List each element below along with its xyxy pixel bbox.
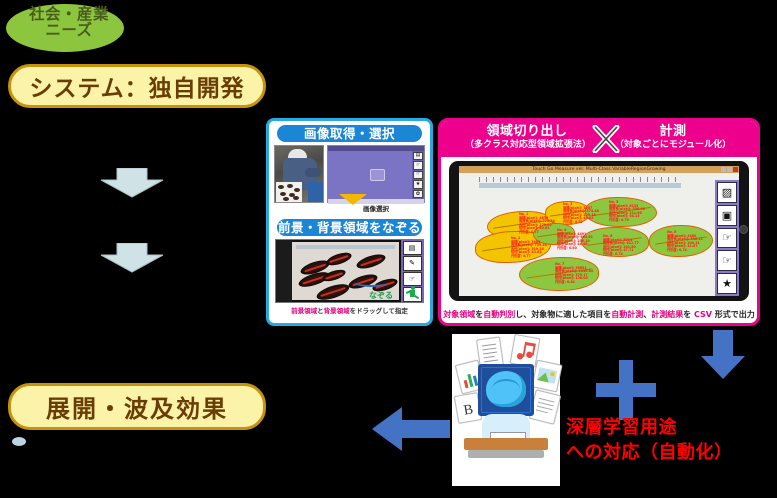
app-window-titlebar: Touch Go Measure ver. Multi-Class Variab… bbox=[459, 166, 739, 173]
step1-header: 画像取得・選択 bbox=[277, 125, 422, 142]
measurement-canvas[interactable]: No. 1 面積[pixel]: 4835 周囲長[pixel]: 778.84… bbox=[459, 173, 739, 296]
floppy-save-icon[interactable]: ▣ bbox=[717, 205, 737, 226]
stage-chevron-icon bbox=[339, 194, 367, 205]
pale-down-arrow-2 bbox=[97, 243, 167, 277]
step2-header: 前景・背景領域をなぞる bbox=[277, 219, 422, 236]
trace-hint-label: なぞる bbox=[369, 290, 393, 301]
annotation-5: No. 5 面積[pixel]: 6133 周囲長[pixel]: 558.06… bbox=[609, 201, 645, 223]
system-box: システム：独自開発 bbox=[8, 64, 266, 108]
card-image-icon bbox=[531, 360, 562, 393]
hand-pointer-icon[interactable]: ☞ bbox=[717, 228, 737, 249]
graph-icon[interactable]: ▨ bbox=[717, 182, 737, 203]
app-toolbar[interactable]: ▨ ▣ ☞ ☞ ★ bbox=[715, 180, 739, 296]
tablet-screen: Touch Go Measure ver. Multi-Class Variab… bbox=[459, 166, 739, 296]
right-title: 計測 bbox=[605, 124, 741, 139]
annotation-7: No. 7 面積[pixel]: 39601 周囲長[pixel]: 1436.… bbox=[555, 263, 593, 285]
right-subtitle: （対象ごとにモジュール化） bbox=[605, 139, 741, 152]
star-icon[interactable]: ★ bbox=[717, 273, 737, 294]
hand-pointer-alt-icon[interactable]: ☞ bbox=[717, 250, 737, 271]
dl-caption-line2: への対応（自動化） bbox=[566, 440, 776, 465]
tablet-device: Touch Go Measure ver. Multi-Class Variab… bbox=[449, 161, 749, 301]
plus-sign-icon bbox=[596, 360, 656, 420]
window-title: Touch Go Measure ver. Multi-Class Variab… bbox=[459, 166, 739, 173]
left-title: 領域切り出し bbox=[465, 124, 589, 139]
tablet-home-button[interactable] bbox=[739, 225, 748, 234]
blue-left-arrow bbox=[372, 405, 450, 453]
step2-caption: 前景領域と背景領域をドラッグして指定 bbox=[269, 305, 430, 315]
deep-learning-illustration: B bbox=[452, 334, 560, 486]
pink-panel-footer: 対象領域を自動判別し、対象物に適した項目を自動計測、計測結果を CSV 形式で出… bbox=[441, 309, 757, 320]
deploy-box: 展開・波及効果 bbox=[8, 383, 266, 430]
bullet-dot bbox=[12, 437, 26, 446]
brain-icon bbox=[486, 371, 526, 407]
window-controls[interactable] bbox=[721, 167, 738, 172]
needs-label-line1: 社会・産業 bbox=[4, 6, 134, 22]
monitor-head bbox=[478, 364, 534, 416]
pale-down-arrow-1 bbox=[97, 168, 167, 202]
annotation-2: No. 2 面積[pixel]: 3989 周囲長[pixel]: 739.44… bbox=[511, 237, 547, 259]
needs-label-line2: ニーズ bbox=[4, 22, 134, 38]
annotation-4: No. 4 面積[pixel]: 4491 周囲長[pixel]: 664.81… bbox=[557, 229, 593, 251]
annotation-6: No. 6 面積[pixel]: 5214 周囲長[pixel]: 612.77… bbox=[603, 235, 639, 257]
annotation-3: No. 3 面積[pixel]: 5287 周囲長[pixel]: 574.48… bbox=[563, 203, 599, 225]
photo-image-capture: 画像取得 bbox=[274, 145, 324, 203]
dl-caption-line1: 深層学習用途 bbox=[566, 415, 776, 440]
system-figure: 画像取得・選択 画像取得 ▤☞☞★✿ 画像選択 bbox=[266, 118, 760, 326]
deep-learning-caption: 深層学習用途 への対応（自動化） bbox=[566, 415, 776, 465]
runner-mascot-icon bbox=[406, 286, 419, 301]
left-subtitle: （多クラス対応型領域拡張法） bbox=[465, 139, 589, 152]
desk-shadow bbox=[468, 450, 544, 458]
blue-down-arrow bbox=[700, 330, 746, 380]
photo-trace-tablet: なぞる ▤✎☞★ bbox=[275, 239, 424, 303]
desk bbox=[464, 438, 548, 450]
system-box-label: システム：独自開発 bbox=[29, 69, 244, 103]
deploy-box-label: 展開・波及効果 bbox=[46, 389, 228, 424]
pink-panel-header: 領域切り出し （多クラス対応型領域拡張法） 計測 （対象ごとにモジュール化） bbox=[441, 121, 757, 157]
annotation-1: No. 1 面積[pixel]: 4835 周囲長[pixel]: 778.84… bbox=[519, 213, 555, 235]
annotation-8: No. 8 面積[pixel]: 4460 周囲長[pixel]: 536.11… bbox=[667, 231, 703, 253]
blue-panel: 画像取得・選択 画像取得 ▤☞☞★✿ 画像選択 bbox=[266, 118, 433, 326]
pink-panel: 領域切り出し （多クラス対応型領域拡張法） 計測 （対象ごとにモジュール化） T… bbox=[438, 118, 760, 326]
needs-label: 社会・産業 ニーズ bbox=[4, 6, 134, 39]
svg-text:B: B bbox=[463, 402, 475, 418]
